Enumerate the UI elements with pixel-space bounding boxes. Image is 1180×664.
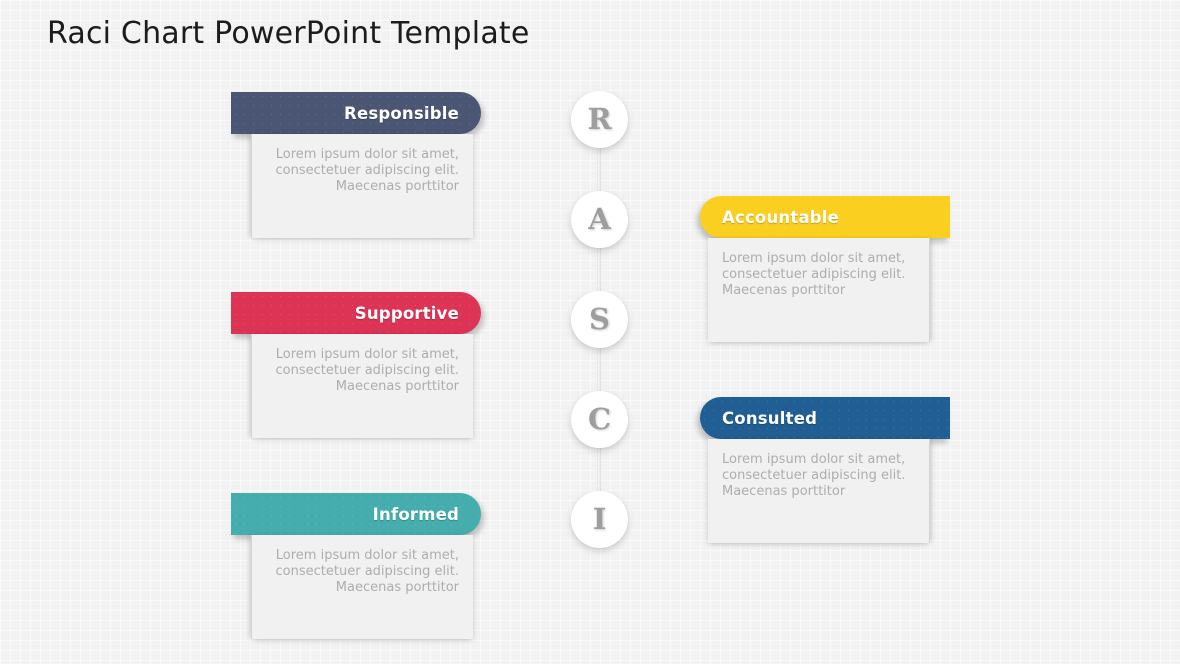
card-supportive-title: Supportive: [355, 304, 459, 323]
card-responsible-title: Responsible: [344, 104, 459, 123]
card-accountable[interactable]: Accountable Lorem ipsum dolor sit amet, …: [700, 196, 950, 342]
node-r-letter: R: [587, 105, 611, 134]
node-c-letter: C: [588, 405, 611, 434]
node-a[interactable]: A: [571, 191, 628, 248]
card-accountable-body: Lorem ipsum dolor sit amet, consectetuer…: [708, 238, 930, 342]
node-i-letter: I: [593, 505, 607, 534]
card-informed[interactable]: Informed Lorem ipsum dolor sit amet, con…: [231, 493, 481, 639]
card-responsible[interactable]: Responsible Lorem ipsum dolor sit amet, …: [231, 92, 481, 238]
card-informed-header[interactable]: Informed: [231, 493, 481, 535]
card-informed-title: Informed: [373, 505, 459, 524]
card-informed-body: Lorem ipsum dolor sit amet, consectetuer…: [251, 535, 473, 639]
slide-canvas: Raci Chart PowerPoint Template R A S C I…: [0, 0, 1180, 664]
card-supportive-header[interactable]: Supportive: [231, 292, 481, 334]
card-consulted-body-text: Lorem ipsum dolor sit amet, consectetuer…: [722, 452, 915, 500]
node-s[interactable]: S: [571, 291, 628, 348]
node-a-letter: A: [588, 205, 611, 234]
card-supportive-body-text: Lorem ipsum dolor sit amet, consectetuer…: [266, 347, 459, 395]
card-consulted-body: Lorem ipsum dolor sit amet, consectetuer…: [708, 439, 930, 543]
page-title: Raci Chart PowerPoint Template: [47, 16, 530, 51]
card-accountable-title: Accountable: [722, 208, 839, 227]
card-responsible-header[interactable]: Responsible: [231, 92, 481, 134]
card-responsible-body: Lorem ipsum dolor sit amet, consectetuer…: [251, 134, 473, 238]
card-supportive-body: Lorem ipsum dolor sit amet, consectetuer…: [251, 334, 473, 438]
node-i[interactable]: I: [571, 491, 628, 548]
card-informed-body-text: Lorem ipsum dolor sit amet, consectetuer…: [266, 548, 459, 596]
card-accountable-header[interactable]: Accountable: [700, 196, 950, 238]
node-s-letter: S: [589, 305, 610, 334]
card-supportive[interactable]: Supportive Lorem ipsum dolor sit amet, c…: [231, 292, 481, 438]
card-consulted[interactable]: Consulted Lorem ipsum dolor sit amet, co…: [700, 397, 950, 543]
card-accountable-body-text: Lorem ipsum dolor sit amet, consectetuer…: [722, 251, 915, 299]
card-consulted-header[interactable]: Consulted: [700, 397, 950, 439]
node-r[interactable]: R: [571, 91, 628, 148]
card-responsible-body-text: Lorem ipsum dolor sit amet, consectetuer…: [266, 147, 459, 195]
card-consulted-title: Consulted: [722, 409, 817, 428]
node-c[interactable]: C: [571, 391, 628, 448]
